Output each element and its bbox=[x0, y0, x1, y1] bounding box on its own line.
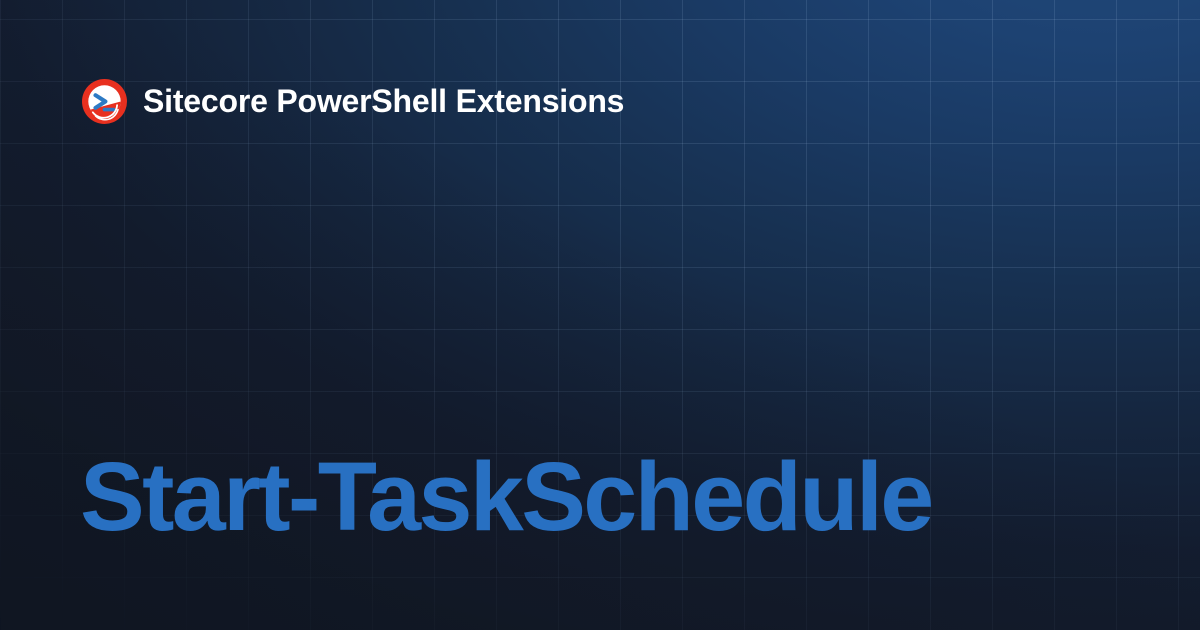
brand-header: Sitecore PowerShell Extensions bbox=[82, 78, 624, 124]
page-title: Start-TaskSchedule bbox=[80, 448, 932, 545]
sitecore-powershell-logo-icon bbox=[82, 79, 127, 124]
og-banner-card: Sitecore PowerShell Extensions Start-Tas… bbox=[0, 0, 1200, 630]
brand-title: Sitecore PowerShell Extensions bbox=[143, 85, 624, 117]
